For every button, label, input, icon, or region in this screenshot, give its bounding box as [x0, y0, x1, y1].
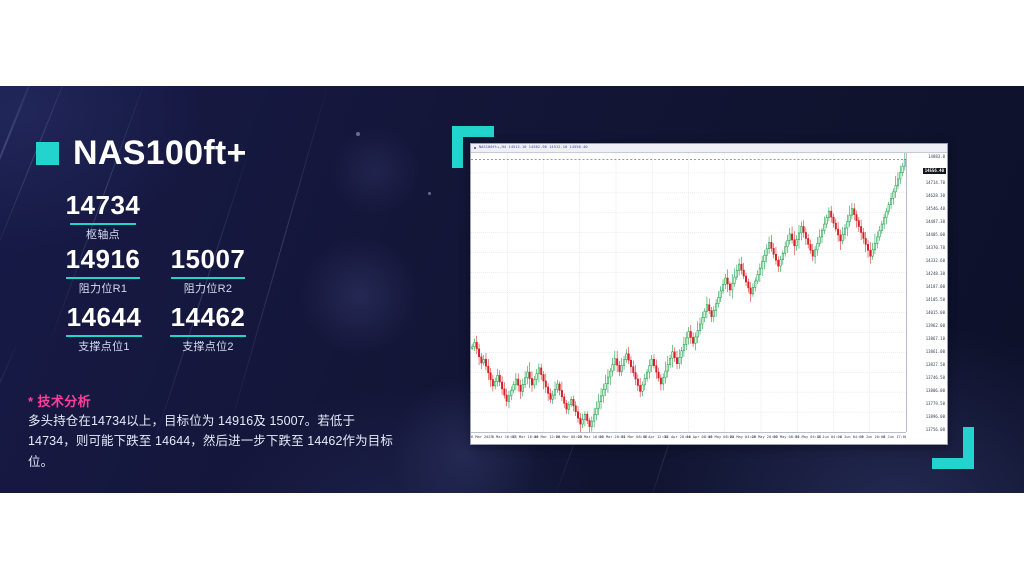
level-underline	[70, 223, 136, 225]
chart-window: NAS100ft+,H4 14512.10 14562.90 14512.10 …	[470, 143, 948, 445]
level-underline	[170, 335, 246, 337]
price-axis-tick: 13746.50	[926, 376, 945, 380]
promo-card-screenshot: NAS100ft+ 14734 枢轴点 14916 阻力位R1 15007 阻力…	[0, 0, 1024, 576]
analysis-body: 多头持仓在14734以上，目标位为 14916及 15007。若低于14734，…	[28, 411, 400, 472]
price-axis-tick: 14015.00	[926, 311, 945, 315]
level-underline	[171, 277, 245, 279]
level-value: 14462	[152, 304, 264, 331]
chart-marker-icon	[474, 147, 476, 149]
time-axis-tick: 6 Jun 20:00	[861, 436, 885, 440]
level-value: 14644	[48, 304, 160, 331]
time-axis-tick: 2 Jun 04:00	[818, 436, 842, 440]
price-axis-current-label: 14556.40	[923, 168, 946, 174]
price-axis-tick: 14332.60	[926, 259, 945, 263]
level-label: 阻力位R2	[152, 283, 264, 296]
price-axis-tick: 14883.0	[928, 155, 945, 159]
price-axis-tick: 13867.10	[926, 337, 945, 341]
chart-header-bar: NAS100ft+,H4 14512.10 14562.90 14512.10 …	[471, 144, 947, 153]
time-axis: 6 Mar 20238 Mar 16:0013 Mar 16:0016 Mar …	[471, 432, 906, 444]
price-axis-tick: 13827.50	[926, 363, 945, 367]
price-axis-tick: 14187.00	[926, 285, 945, 289]
candlestick-plot	[471, 153, 906, 432]
price-axis-tick: 13962.00	[926, 324, 945, 328]
price-axis-tick: 14628.30	[926, 194, 945, 198]
time-axis-tick: 8 Jun 17:00	[883, 436, 906, 440]
price-axis-tick: 14405.00	[926, 233, 945, 237]
level-value: 14916	[48, 246, 158, 273]
level-underline	[66, 277, 140, 279]
price-axis: 14883.014556.4014714.7014628.3014546.401…	[906, 153, 947, 432]
price-axis-tick: 13779.50	[926, 402, 945, 406]
level-label: 阻力位R1	[48, 283, 158, 296]
level-label: 支撑点位1	[48, 341, 160, 354]
level-pivot: 14734 枢轴点	[48, 192, 158, 242]
chart-header-text: NAS100ft+,H4 14512.10 14562.90 14512.10 …	[479, 146, 588, 150]
level-value: 15007	[152, 246, 264, 273]
square-accent-icon	[36, 142, 59, 165]
symbol-title-row: NAS100ft+	[36, 136, 247, 170]
price-axis-tick: 14487.30	[926, 220, 945, 224]
price-axis-tick: 14370.70	[926, 246, 945, 250]
level-support-2: 14462 支撑点位2	[152, 304, 264, 354]
level-label: 支撑点位2	[152, 341, 264, 354]
price-axis-tick: 14105.50	[926, 298, 945, 302]
price-axis-tick: 13806.00	[926, 389, 945, 393]
level-label: 枢轴点	[48, 229, 158, 242]
price-axis-tick: 14714.70	[926, 181, 945, 185]
level-underline	[66, 335, 142, 337]
price-axis-tick: 14248.30	[926, 272, 945, 276]
analysis-heading: * 技术分析	[28, 391, 91, 410]
chart-plot-area	[471, 153, 906, 432]
price-axis-tick: 13861.00	[926, 350, 945, 354]
time-axis-tick: 6 Mar 2023	[471, 436, 493, 440]
level-resistance-1: 14916 阻力位R1	[48, 246, 158, 296]
level-value: 14734	[48, 192, 158, 219]
level-resistance-2: 15007 阻力位R2	[152, 246, 264, 296]
price-axis-tick: 13896.00	[926, 415, 945, 419]
page-title: NAS100ft+	[73, 136, 247, 170]
price-axis-tick: 14546.40	[926, 207, 945, 211]
info-panel: NAS100ft+ 14734 枢轴点 14916 阻力位R1 15007 阻力…	[0, 86, 430, 493]
time-axis-tick: 4 Jun 04:00	[840, 436, 864, 440]
level-support-1: 14644 支撑点位1	[48, 304, 160, 354]
price-axis-tick: 13756.00	[926, 428, 945, 432]
